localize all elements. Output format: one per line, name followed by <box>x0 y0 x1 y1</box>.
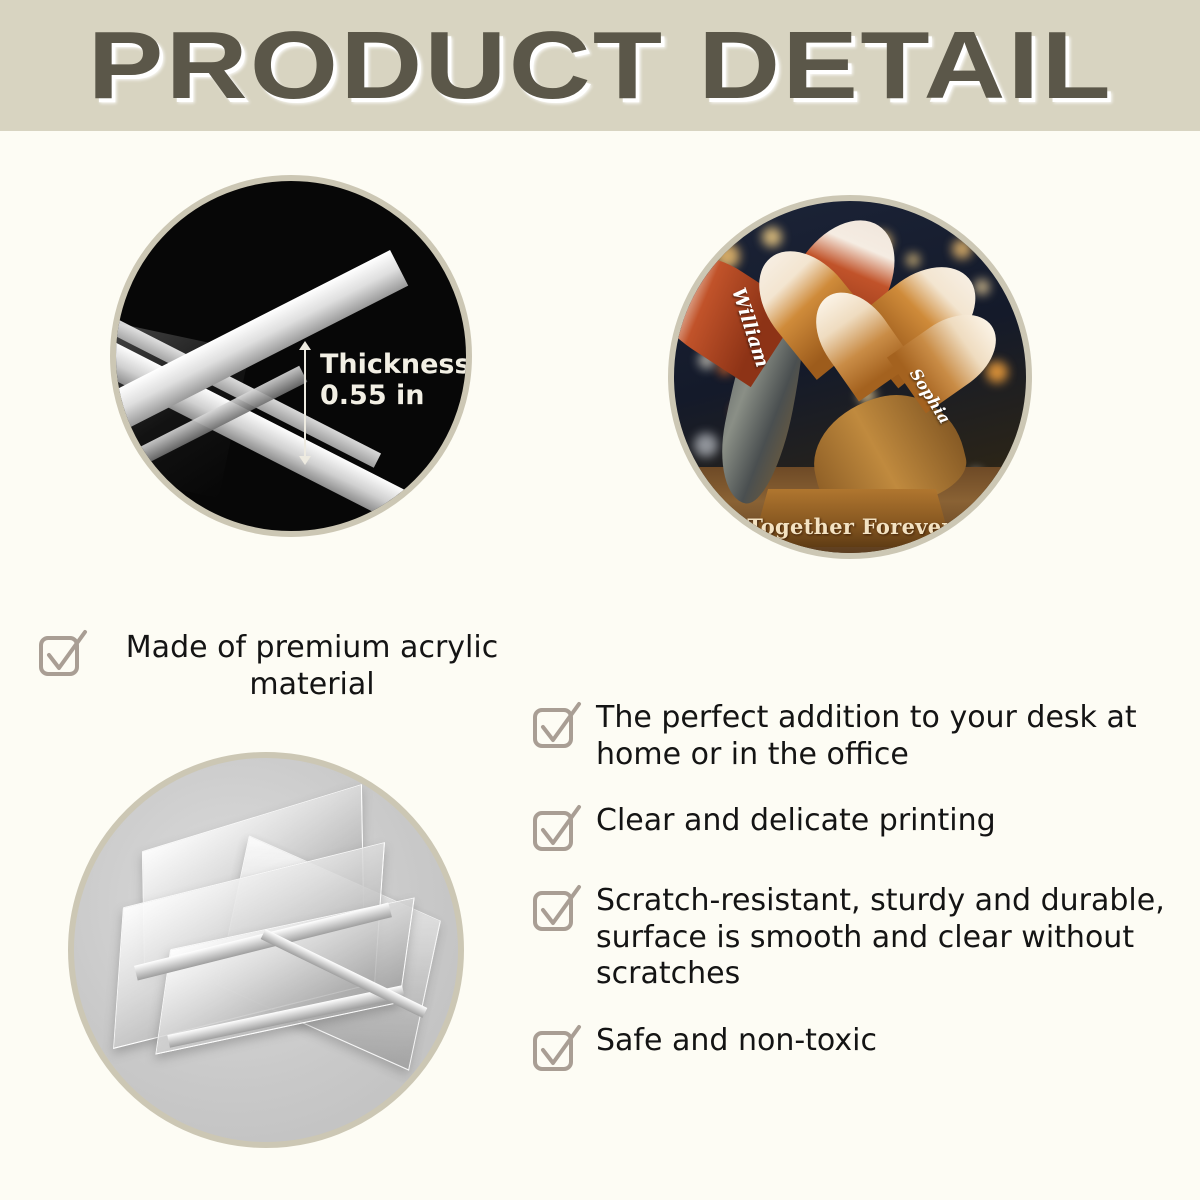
page-title: PRODUCT DETAIL <box>87 18 1112 114</box>
feature-label: The perfect addition to your desk at hom… <box>596 698 1192 773</box>
acrylic-sheets-circle <box>68 752 464 1148</box>
checkbox-checked-icon <box>532 702 580 750</box>
base-engraving-text: Together Forever <box>674 514 1026 539</box>
feature-list-right: The perfect addition to your desk at hom… <box>532 698 1192 1073</box>
thickness-label-line1: Thickness <box>320 349 472 380</box>
checkbox-checked-icon <box>532 1025 580 1073</box>
checkbox-checked-icon <box>532 805 580 853</box>
checkbox-checked-icon <box>38 630 86 678</box>
thickness-label: Thickness 0.55 in <box>320 349 472 412</box>
checkbox-checked-icon <box>532 885 580 933</box>
feature-label: Made of premium acrylic material <box>102 630 522 703</box>
feature-item: Made of premium acrylic material <box>38 630 538 703</box>
feature-item: Scratch-resistant, sturdy and durable, s… <box>532 881 1192 993</box>
thickness-detail-circle: Thickness 0.55 in <box>110 175 472 537</box>
feature-item: The perfect addition to your desk at hom… <box>532 698 1192 773</box>
product-photo-circle: William Sophia Together Forever <box>668 195 1032 559</box>
heart-small <box>856 295 1000 439</box>
thickness-label-line2: 0.55 in <box>320 380 472 411</box>
feature-list-left: Made of premium acrylic material <box>38 630 538 703</box>
thickness-arrow-icon <box>304 349 306 457</box>
header-band: PRODUCT DETAIL <box>0 0 1200 131</box>
feature-item: Safe and non-toxic <box>532 1021 1192 1073</box>
feature-label: Safe and non-toxic <box>596 1021 877 1060</box>
feature-label: Clear and delicate printing <box>596 801 996 840</box>
feature-label: Scratch-resistant, sturdy and durable, s… <box>596 881 1192 993</box>
feature-item: Clear and delicate printing <box>532 801 1192 853</box>
